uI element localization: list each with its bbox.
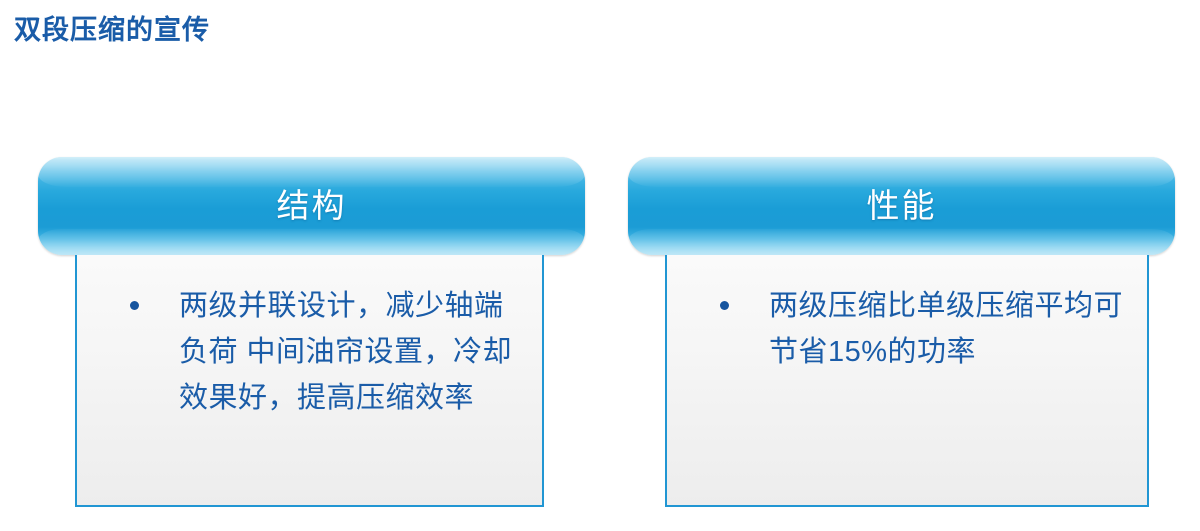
bullet-dot-icon [720, 301, 729, 310]
card-header-structure[interactable]: 结构 [38, 157, 585, 255]
bullet-list-item: 两级并联设计，减少轴端负荷 中间油帘设置，冷却效果好，提高压缩效率 [77, 283, 542, 421]
bullet-text: 两级并联设计，减少轴端负荷 中间油帘设置，冷却效果好，提高压缩效率 [179, 283, 524, 421]
card-header-label: 性能 [628, 186, 1175, 226]
page-title: 双段压缩的宣传 [14, 13, 210, 47]
card-header-label: 结构 [38, 186, 585, 226]
slide-canvas: 双段压缩的宣传 结构 两级并联设计，减少轴端负荷 中间油帘设置，冷却效果好，提高… [0, 0, 1200, 531]
bullet-dot-icon [130, 301, 139, 310]
card-header-performance[interactable]: 性能 [628, 157, 1175, 255]
card-body-performance: 两级压缩比单级压缩平均可节省15%的功率 [665, 255, 1149, 507]
bullet-list-item: 两级压缩比单级压缩平均可节省15%的功率 [667, 283, 1147, 375]
bullet-text: 两级压缩比单级压缩平均可节省15%的功率 [769, 283, 1123, 375]
card-body-structure: 两级并联设计，减少轴端负荷 中间油帘设置，冷却效果好，提高压缩效率 [75, 255, 544, 507]
